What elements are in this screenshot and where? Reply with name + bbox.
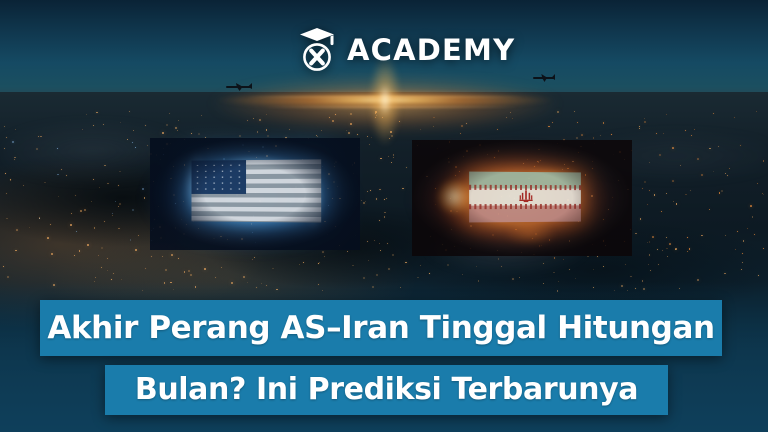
usa-vignette (150, 138, 360, 250)
headline-bar-line-2: Bulan? Ini Prediksi Terbarunya (105, 365, 668, 415)
headline-bar-line-1: Akhir Perang AS–Iran Tinggal Hitungan (40, 300, 722, 356)
graduation-cap-x-circle-icon (296, 26, 338, 74)
headline-text-line-1: Akhir Perang AS–Iran Tinggal Hitungan (47, 313, 714, 344)
smoke-clouds (0, 96, 768, 296)
academy-logo[interactable]: ACADEMY (296, 26, 515, 74)
iran-vignette (412, 140, 632, 256)
headline-text-line-2: Bulan? Ini Prediksi Terbarunya (135, 375, 638, 405)
thumbnail-canvas: ACADEMY Akhir Perang AS–Iran Tinggal Hit… (0, 0, 768, 432)
jet-silhouette-right (533, 77, 555, 80)
jet-silhouette-left (226, 86, 252, 89)
academy-logo-text: ACADEMY (347, 36, 515, 65)
